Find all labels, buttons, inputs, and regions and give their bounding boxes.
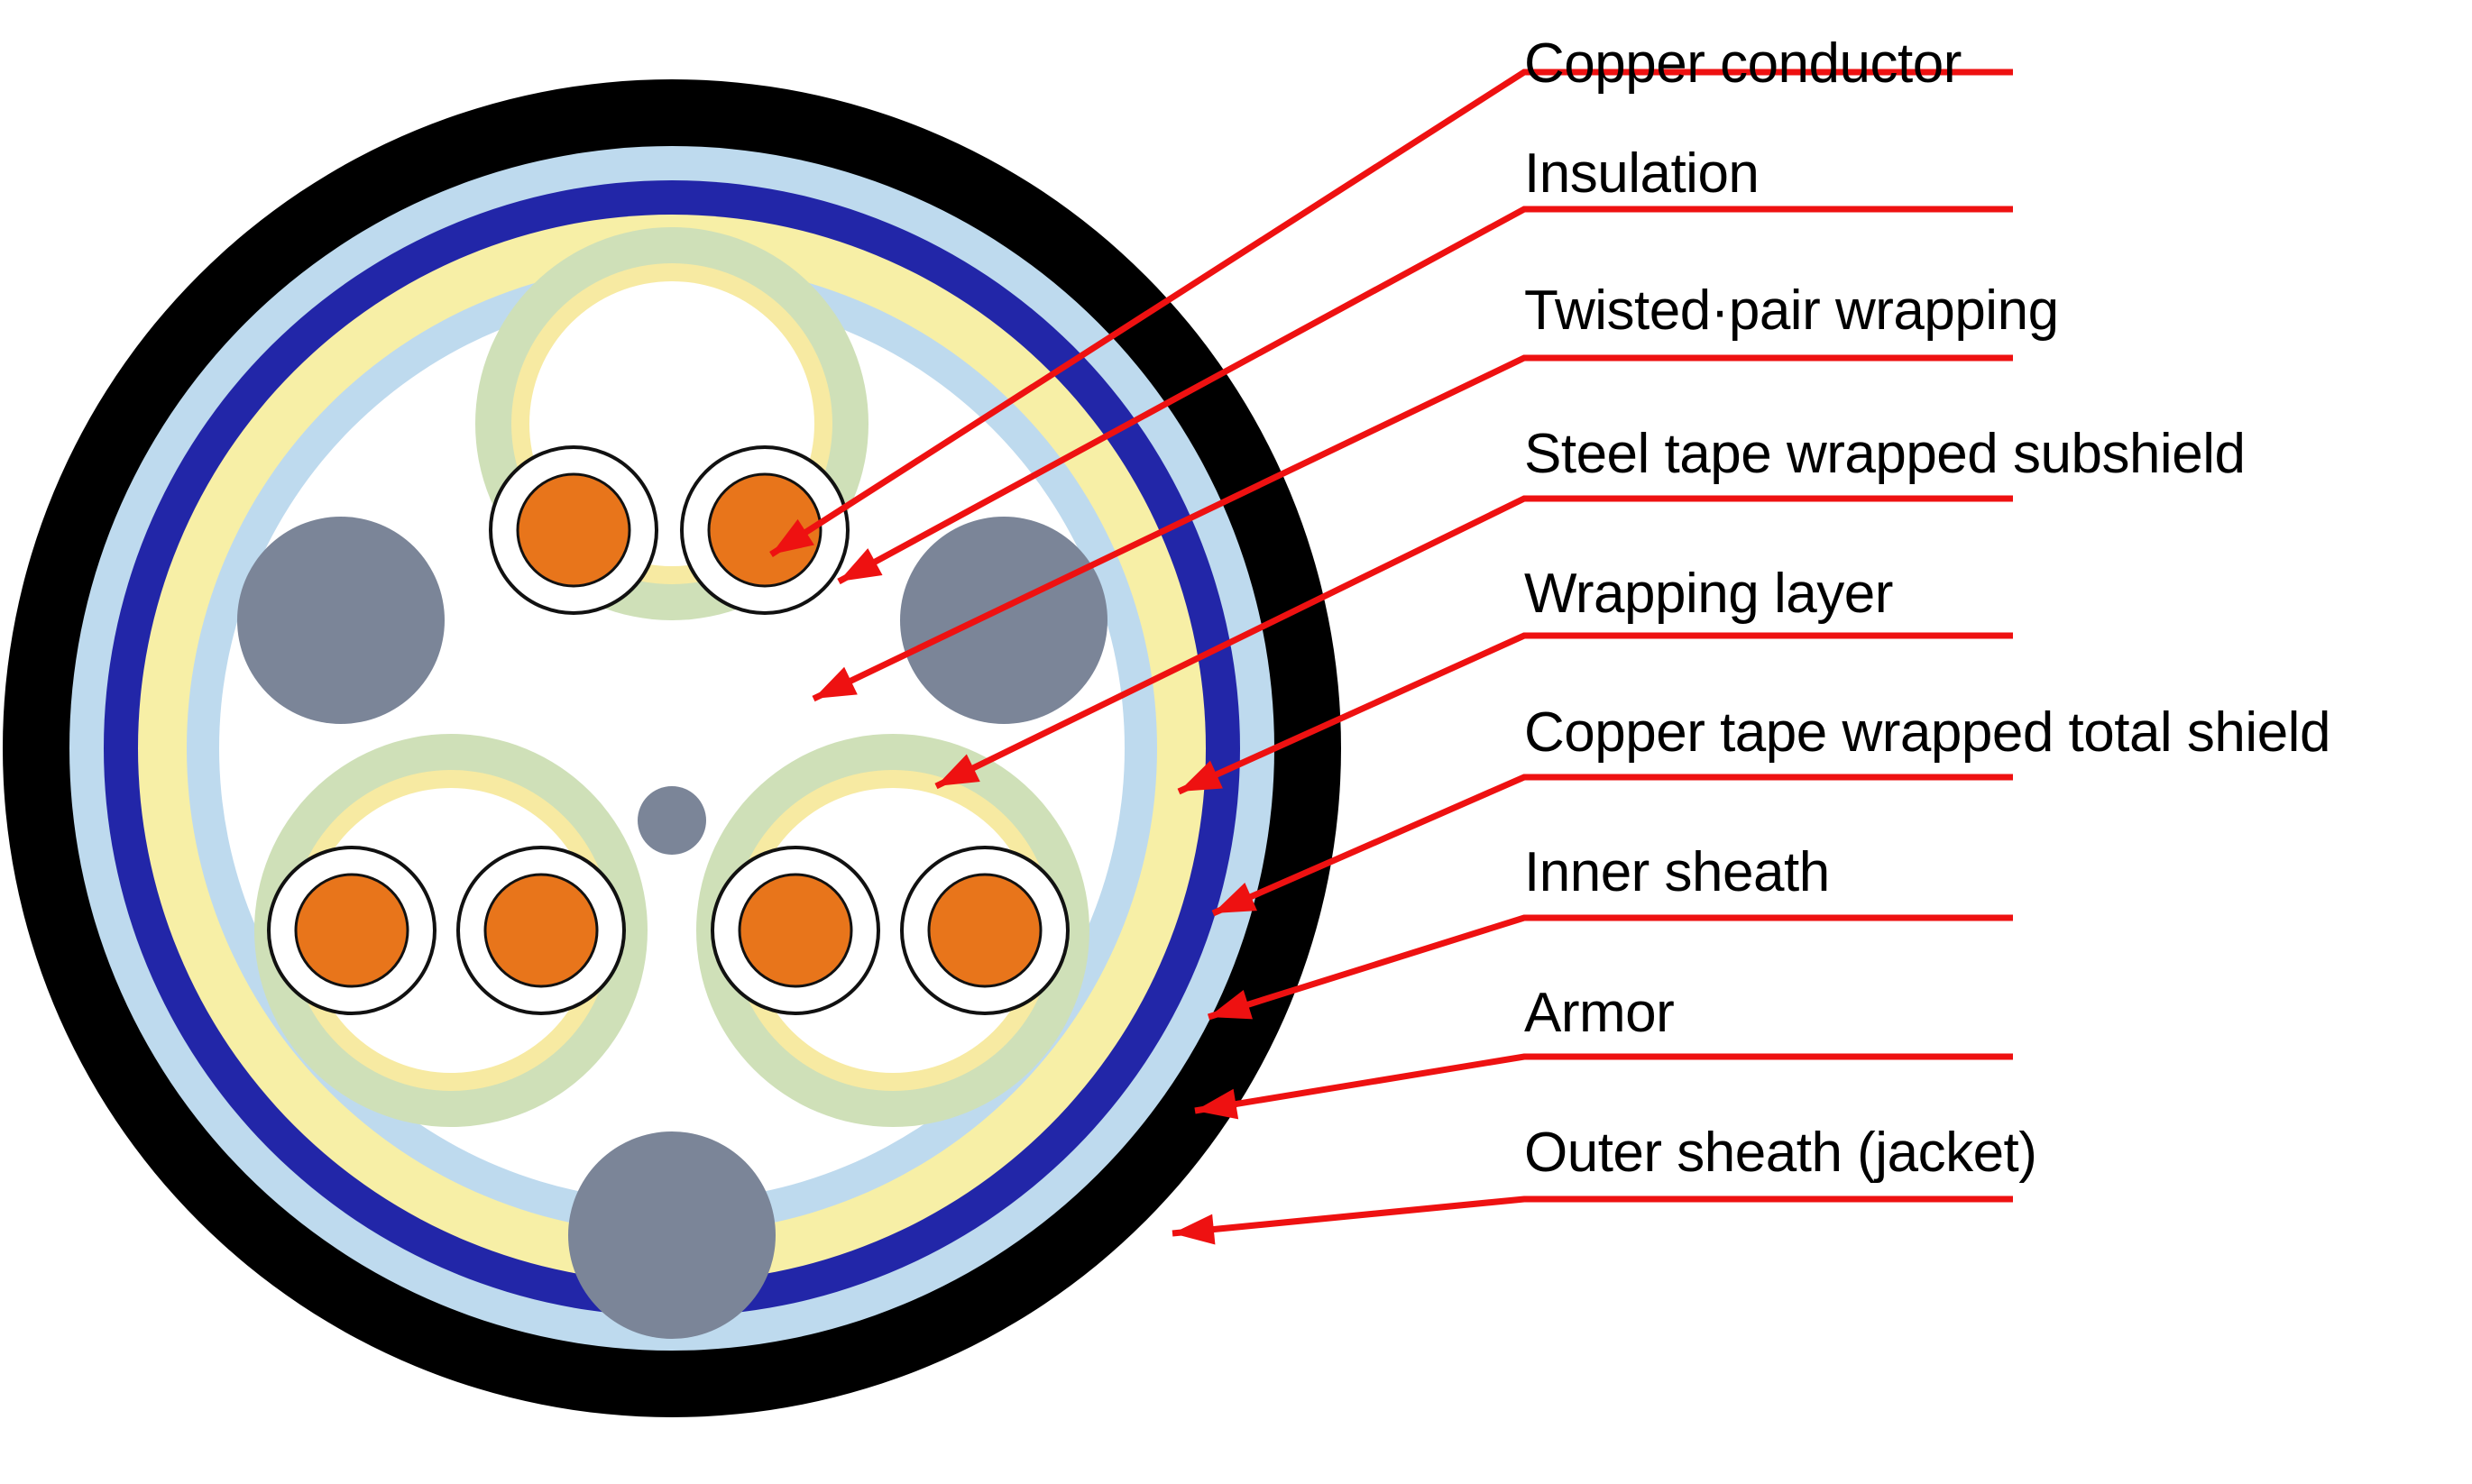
leader-arrowhead-copper-tape-wrapped-total-shield — [1213, 883, 1257, 913]
leader-arrowhead-inner-sheath — [1208, 990, 1253, 1019]
cable-cross-section-diagram: Copper conductorInsulationTwisted·pair w… — [0, 0, 2472, 1484]
callout-label-insulation: Insulation — [1524, 146, 1759, 202]
leader-arrowhead-wrapping-layer — [1179, 761, 1223, 792]
leader-line-armor — [1195, 1057, 2013, 1111]
callout-label-outer-sheath-jacket: Outer sheath (jacket) — [1524, 1125, 2036, 1181]
callout-label-armor: Armor — [1524, 985, 1674, 1041]
callout-label-inner-sheath: Inner sheath — [1524, 845, 1830, 901]
leader-arrowhead-insulation — [839, 548, 883, 582]
leader-arrowhead-twisted-pair-wrapping — [813, 667, 858, 699]
callout-label-twisted-pair-wrapping: Twisted·pair wrapping — [1524, 283, 2059, 339]
leader-arrowhead-copper-conductor — [771, 519, 814, 554]
leader-line-outer-sheath-jacket — [1172, 1199, 2013, 1233]
leader-arrowhead-armor — [1195, 1089, 1238, 1120]
callout-label-wrapping-layer: Wrapping layer — [1524, 566, 1893, 622]
callout-label-copper-tape-wrapped-total-shield: Copper tape wrapped total shield — [1524, 705, 2330, 761]
leader-arrowhead-steel-tape-wrapped-subshield — [936, 755, 980, 786]
leader-arrowhead-outer-sheath-jacket — [1172, 1214, 1215, 1245]
callout-label-copper-conductor: Copper conductor — [1524, 36, 1962, 92]
callout-label-steel-tape-wrapped-subshield: Steel tape wrapped subshield — [1524, 426, 2245, 482]
